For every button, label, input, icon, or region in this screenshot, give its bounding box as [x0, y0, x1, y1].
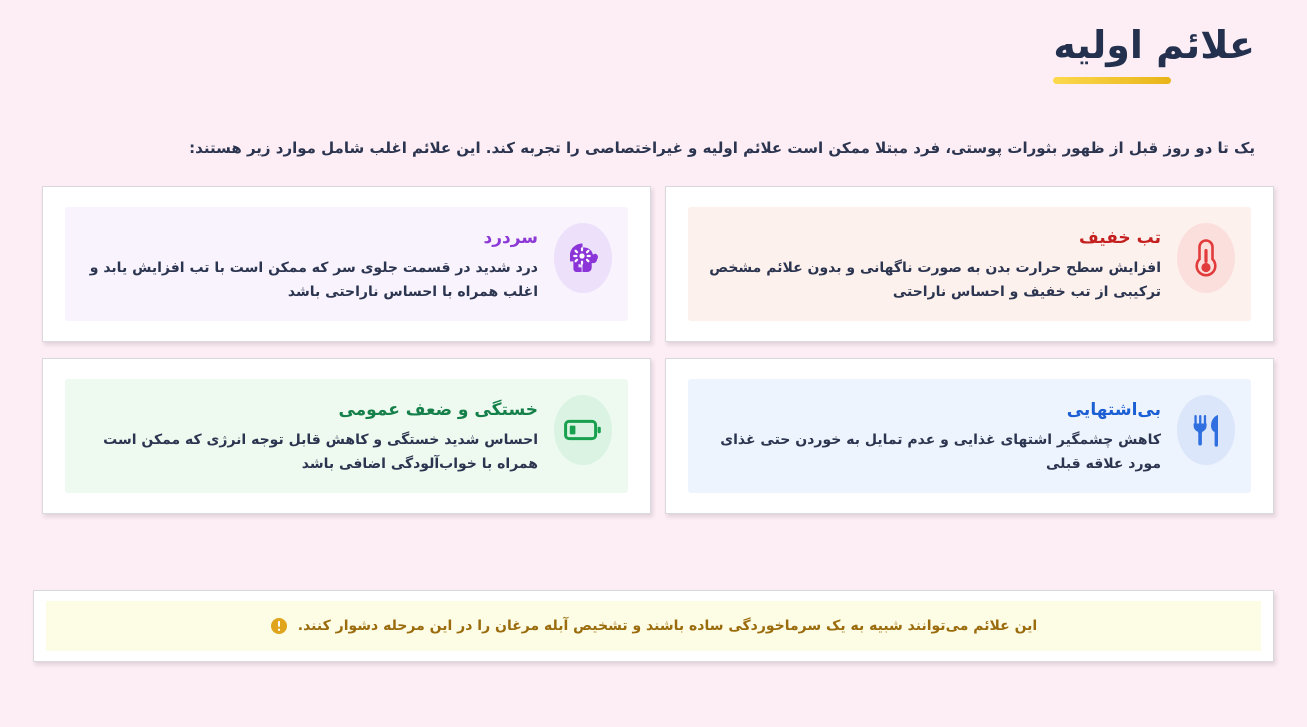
- head-gear-icon: [554, 223, 612, 293]
- symptom-card-headache: سردرد درد شدید در قسمت جلوی سر که ممکن ا…: [42, 186, 651, 342]
- thermometer-icon: [1177, 223, 1235, 293]
- card-description: افزایش سطح حرارت بدن به صورت ناگهانی و ب…: [704, 256, 1161, 305]
- note-text: این علائم می‌توانند شبیه به یک سرماخوردگ…: [298, 615, 1037, 637]
- card-description: احساس شدید خستگی و کاهش قابل توجه انرژی …: [81, 428, 538, 477]
- page-title: علائم اولیه: [1053, 22, 1255, 70]
- card-title: سردرد: [81, 227, 538, 251]
- warning-circle-icon: [270, 617, 288, 635]
- card-title: بی‌اشتهایی: [704, 399, 1161, 423]
- symptom-card-loss-of-appetite: بی‌اشتهایی کاهش چشمگیر اشتهای غذایی و عد…: [665, 358, 1274, 514]
- intro-paragraph: یک تا دو روز قبل از ظهور بثورات پوستی، ف…: [52, 136, 1255, 160]
- fork-knife-icon: [1177, 395, 1235, 465]
- low-battery-icon: [554, 395, 612, 465]
- symptom-card-mild-fever: تب خفیف افزایش سطح حرارت بدن به صورت ناگ…: [665, 186, 1274, 342]
- card-description: درد شدید در قسمت جلوی سر که ممکن است با …: [81, 256, 538, 305]
- page-title-block: علائم اولیه: [1053, 22, 1255, 84]
- card-title: خستگی و ضعف عمومی: [81, 399, 538, 423]
- title-underline: [1053, 77, 1171, 84]
- symptom-card-fatigue: خستگی و ضعف عمومی احساس شدید خستگی و کاه…: [42, 358, 651, 514]
- note-callout: این علائم می‌توانند شبیه به یک سرماخوردگ…: [33, 590, 1274, 662]
- symptom-card-grid: تب خفیف افزایش سطح حرارت بدن به صورت ناگ…: [33, 186, 1274, 514]
- card-title: تب خفیف: [704, 227, 1161, 251]
- card-description: کاهش چشمگیر اشتهای غذایی و عدم تمایل به …: [704, 428, 1161, 477]
